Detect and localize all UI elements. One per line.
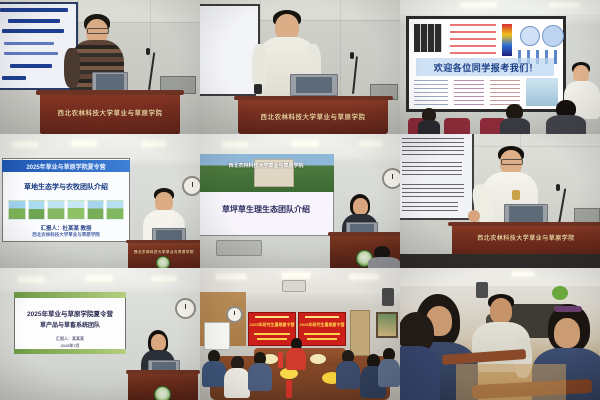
collage-panel-bottom-right[interactable] (400, 268, 600, 400)
slide-footer-line: 汇报人：杜某某 教授 (2, 224, 130, 232)
participant-torso (224, 368, 250, 398)
podium: 西北农林科技大学草业与草原学院 (452, 222, 600, 256)
podium-top-edge (448, 222, 600, 226)
audience-torso (368, 257, 400, 268)
slide-paragraph (402, 138, 464, 156)
ceiling-light (460, 3, 496, 7)
participant (248, 352, 272, 392)
slide-text-line (4, 52, 58, 55)
banner-top-line (255, 316, 289, 318)
red-banner-text: 2025年研究生暑期夏令营 (249, 322, 295, 328)
laptop (290, 74, 338, 96)
wall-clock (382, 168, 400, 189)
slide-text-line (10, 64, 52, 68)
participant (202, 350, 226, 388)
slide-paragraph (402, 162, 462, 178)
ceiling-light (152, 276, 176, 281)
speaker-head (155, 192, 173, 212)
slide-thumbnail (87, 200, 105, 220)
slide-thumbnail (8, 200, 26, 220)
laptop-screen (296, 77, 333, 94)
podium-inscription: 西北农林科技大学草业与草原学院 (244, 110, 382, 121)
ceiling-light (86, 276, 112, 281)
participant-torso (378, 359, 400, 387)
slide-headline-text: 草坪草生理生态团队介绍 (200, 204, 334, 215)
participant (224, 356, 250, 398)
audience-torso (500, 118, 530, 134)
ceiling-projector (282, 280, 306, 292)
poster-text-column (454, 80, 484, 106)
collage-panel-middle-right[interactable]: 西北农林科技大学草业与草原学院 (400, 134, 600, 268)
seated-man-head (490, 298, 512, 324)
slide-photo-strip (8, 200, 124, 220)
poster-text-column (490, 80, 520, 106)
ceiling-light (12, 142, 38, 147)
presenter-head (151, 334, 166, 351)
podium: 西北农林科技大学草业与草原学院 (238, 96, 388, 134)
slide-banner-text: 西北农林科技大学草业与草原学院 (200, 162, 334, 169)
poster-image-grid (414, 24, 442, 52)
collage-panel-middle-left[interactable]: 2025年草业与草原学院夏令营 草地生态学与农牧团队介绍 汇报人：杜某某 教授 … (0, 134, 200, 268)
ceiling-light (216, 274, 246, 279)
microphone-head (556, 184, 560, 191)
slide-thumbnail (106, 200, 124, 220)
podium-inscription: 西北农林科技大学草业与草原学院 (46, 105, 175, 118)
laptop-screen (509, 206, 542, 221)
audience-member (368, 246, 400, 268)
collage-panel-middle-center[interactable]: 西北农林科技大学草业与草原学院 草坪草生理生态团队介绍 (200, 134, 400, 268)
participant (378, 348, 400, 388)
banner-bottom-line (304, 333, 340, 335)
wall-speaker (382, 288, 394, 306)
podium (128, 370, 198, 400)
speaker-head (353, 198, 368, 215)
green-decor (552, 286, 568, 300)
ceiling-light (222, 142, 248, 147)
audience-member (500, 104, 530, 134)
ceiling-light (292, 141, 318, 146)
projection-screen: 2025年草业与草原学院夏令营 草产品与草畜系统团队 汇报人：某某某 2025年… (14, 292, 126, 354)
remote-clicker (254, 84, 262, 94)
college-emblem (156, 256, 170, 268)
collage-panel-top-right[interactable]: 欢迎各位同学报考我们！ (400, 0, 600, 134)
collage-panel-top-left[interactable]: 西北农林科技大学草业与草原学院 (0, 0, 200, 134)
ceiling-light (282, 273, 310, 278)
podium-top-edge (36, 90, 184, 95)
slide-thumbnail (67, 200, 85, 220)
participant-torso (336, 361, 360, 389)
slide-footer-line: 西北农林科技大学草业与草原学院 (2, 232, 130, 238)
photo-collage-grid: 西北农林科技大学草业与草原学院 blank-white-screen (0, 0, 600, 400)
student (400, 312, 440, 400)
eyeglasses (87, 28, 109, 34)
water-bottle (278, 352, 283, 368)
av-cabinet (216, 240, 262, 256)
projection-screen: 西北农林科技大学草业与草原学院 草坪草生理生态团队介绍 (200, 154, 334, 236)
slide-text-line (8, 19, 60, 23)
red-banner-text: 2025年研究生暑期夏令营 (299, 322, 345, 328)
collage-panel-bottom-center[interactable]: 2025年研究生暑期夏令营 2025年研究生暑期夏令营 (200, 268, 400, 400)
slide-thumbnail (28, 200, 46, 220)
podium-top-edge (126, 240, 200, 243)
led-headline-text: 欢迎各位同学报考我们！ (406, 61, 566, 74)
hair-tie (554, 306, 582, 312)
speaker-hand (468, 210, 480, 222)
collage-panel-top-center[interactable]: blank-white-screen 西北农林科技大学草业与草原学院 (200, 0, 400, 134)
slide-paragraph (402, 184, 464, 198)
poster-circle-diagram (542, 25, 564, 47)
ceiling-light (142, 141, 166, 146)
audience-torso (418, 120, 440, 134)
participant (286, 338, 306, 370)
microphone-head (350, 52, 354, 59)
poster-heatmap (502, 24, 512, 56)
projection-screen: blank-white-screen (200, 4, 260, 96)
podium-top-edge (234, 96, 393, 100)
college-emblem (154, 386, 171, 400)
participant-torso (202, 361, 226, 387)
chair-back (444, 118, 470, 134)
slide-banner-text: 2025年草业与草原学院夏令营 (2, 162, 130, 171)
laptop-screen (96, 74, 123, 89)
student-head (554, 318, 580, 348)
ceiling-light (360, 141, 382, 146)
slide-headline-text: 2025年草业与草原学院夏令营 (14, 308, 126, 318)
poster-circle-diagram (520, 26, 540, 46)
banner-bottom-line (307, 338, 337, 340)
podium-top-edge (126, 370, 200, 374)
floor (456, 364, 566, 400)
banner-bottom-line (257, 338, 287, 340)
poster-chart (450, 24, 496, 54)
ceiling-light (550, 3, 580, 7)
slide-headline-text: 草地生态学与农牧团队介绍 (2, 182, 130, 192)
table-items (310, 354, 326, 364)
ceiling-light (512, 272, 534, 276)
laptop (504, 204, 548, 224)
laptop-screen (156, 230, 182, 241)
participant-torso (286, 348, 306, 370)
podium-inscription: 西北农林科技大学草业与草原学院 (458, 233, 594, 243)
podium: 西北农林科技大学草业与草原学院 (128, 240, 200, 268)
slide-text-line (0, 8, 68, 12)
microphone-head (146, 48, 150, 55)
slide-text-line (2, 76, 26, 80)
banner-bottom-line (254, 333, 290, 335)
speaker-arm (64, 48, 80, 88)
whiteboard (204, 322, 230, 350)
ceiling-light (350, 274, 378, 279)
ceiling (400, 268, 600, 286)
slide-bottom-band (14, 349, 126, 354)
slide-paragraph (402, 202, 458, 214)
slide-subheadline-text: 草产品与草畜系统团队 (14, 320, 126, 329)
projection-screen (400, 134, 474, 220)
slide-top-band (14, 292, 126, 298)
projection-screen: 2025年草业与草原学院夏令营 草地生态学与农牧团队介绍 汇报人：杜某某 教授 … (2, 158, 130, 242)
desk-front (400, 254, 600, 268)
participant (336, 350, 360, 390)
student-torso (400, 346, 440, 400)
poster-text-column (414, 80, 448, 106)
slide-text-line (2, 29, 64, 33)
ceiling-light (72, 141, 96, 146)
wall-clock (226, 306, 243, 323)
podium-top-edge (328, 232, 400, 236)
slide-thumbnail (47, 200, 65, 220)
wall-artwork (376, 312, 398, 338)
wall-clock (175, 298, 196, 319)
collage-panel-bottom-left[interactable]: 2025年草业与草原学院夏令营 草产品与草畜系统团队 汇报人：某某某 2025年… (0, 268, 200, 400)
wall-seam (340, 0, 341, 100)
audience-member (546, 100, 586, 134)
slide-footer-line: 汇报人：某某某 (14, 336, 126, 342)
tshirt-logo (512, 190, 520, 200)
banner-top-line (305, 316, 339, 318)
audience-torso (546, 115, 586, 134)
slide-text-line (4, 42, 54, 45)
water-bottle (286, 380, 292, 398)
laptop (92, 72, 128, 92)
ceiling-light (18, 277, 44, 282)
led-screen: 欢迎各位同学报考我们！ (406, 16, 566, 112)
participant-torso (248, 363, 272, 391)
podium: 西北农林科技大学草业与草原学院 (40, 90, 180, 134)
audience-member (418, 108, 440, 134)
eyeglasses (501, 159, 523, 165)
